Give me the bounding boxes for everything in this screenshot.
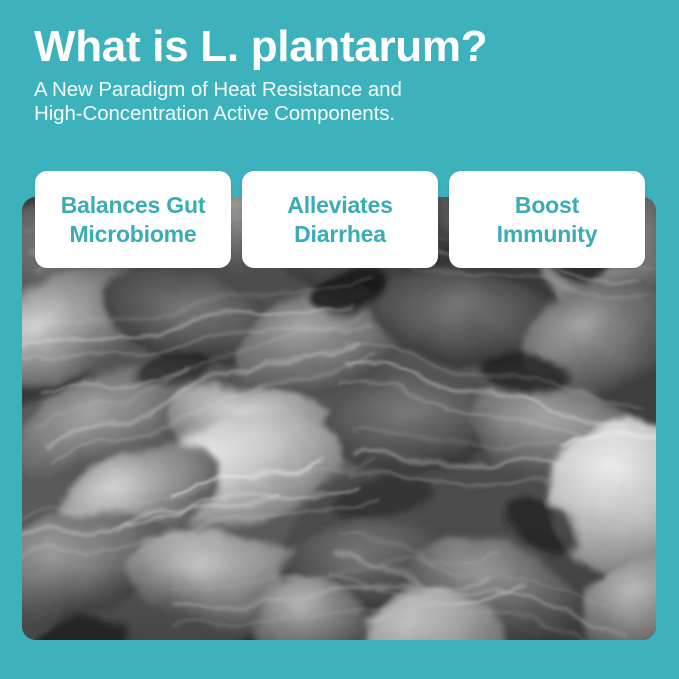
benefit-card-alleviates-diarrhea[interactable]: Alleviates Diarrhea [242, 171, 438, 268]
benefit-card-label-line-1: Boost [515, 192, 579, 218]
poster-root: What is L. plantarum? A New Paradigm of … [0, 0, 679, 679]
benefit-card-label-line-2: Immunity [497, 221, 598, 247]
page-subtitle-line-2: High-Concentration Active Components. [34, 102, 634, 126]
benefit-card-label-line-1: Balances Gut [61, 192, 206, 218]
benefit-cards-row: Balances Gut Microbiome Alleviates Diarr… [35, 171, 645, 268]
benefit-card-label: Boost Immunity [491, 191, 604, 249]
benefit-card-boost-immunity[interactable]: Boost Immunity [449, 171, 645, 268]
page-subtitle-line-1: A New Paradigm of Heat Resistance and [34, 78, 634, 102]
benefit-card-label-line-1: Alleviates [287, 192, 392, 218]
benefit-card-label: Balances Gut Microbiome [55, 191, 212, 249]
page-subtitle: A New Paradigm of Heat Resistance and Hi… [34, 78, 634, 125]
benefit-card-label-line-2: Microbiome [69, 221, 196, 247]
benefit-card-label-line-2: Diarrhea [294, 221, 386, 247]
benefit-card-label: Alleviates Diarrhea [281, 191, 398, 249]
header: What is L. plantarum? A New Paradigm of … [34, 22, 634, 125]
page-title: What is L. plantarum? [34, 22, 634, 72]
benefit-card-balances-gut-microbiome[interactable]: Balances Gut Microbiome [35, 171, 231, 268]
